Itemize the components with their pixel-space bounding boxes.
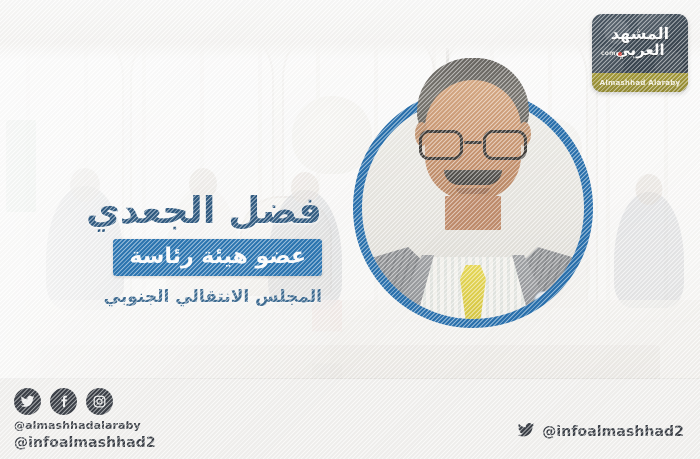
logo-com-label: com	[601, 50, 616, 57]
subject-name: فضل الجعدي	[0, 190, 348, 231]
twitter-icon[interactable]	[14, 388, 41, 415]
twitter-icon[interactable]	[517, 421, 535, 443]
facebook-icon[interactable]	[50, 388, 77, 415]
subject-role-badge: عضو هيئة رئاسة	[113, 239, 322, 276]
subject-organization: المجلس الانتقالي الجنوبي	[0, 287, 348, 307]
portrait-ring	[353, 88, 593, 328]
logo-red-dot-icon	[618, 52, 622, 56]
right-handle[interactable]: @infoalmashhad2	[542, 423, 684, 442]
subject-info-block: فضل الجعدي عضو هيئة رئاسة المجلس الانتقا…	[0, 190, 348, 307]
channel-logo[interactable]: المشهد العربي com Almashhad Alaraby	[592, 14, 688, 92]
social-links-left: @almashhadalaraby @infoalmashhad2	[14, 388, 156, 453]
instagram-icon[interactable]	[86, 388, 113, 415]
handle-primary[interactable]: @almashhadalaraby	[14, 419, 156, 434]
logo-arabic-line1: المشهد	[611, 24, 669, 43]
portrait-container	[353, 88, 593, 328]
news-graphic-card: المشهد العربي com Almashhad Alaraby فضل …	[0, 0, 700, 459]
handle-secondary[interactable]: @infoalmashhad2	[14, 434, 156, 453]
logo-latin-name: Almashhad Alaraby	[600, 79, 681, 87]
social-icon-row	[14, 388, 156, 415]
social-links-right: @infoalmashhad2	[517, 421, 684, 443]
logo-latin-band: Almashhad Alaraby	[592, 73, 688, 92]
